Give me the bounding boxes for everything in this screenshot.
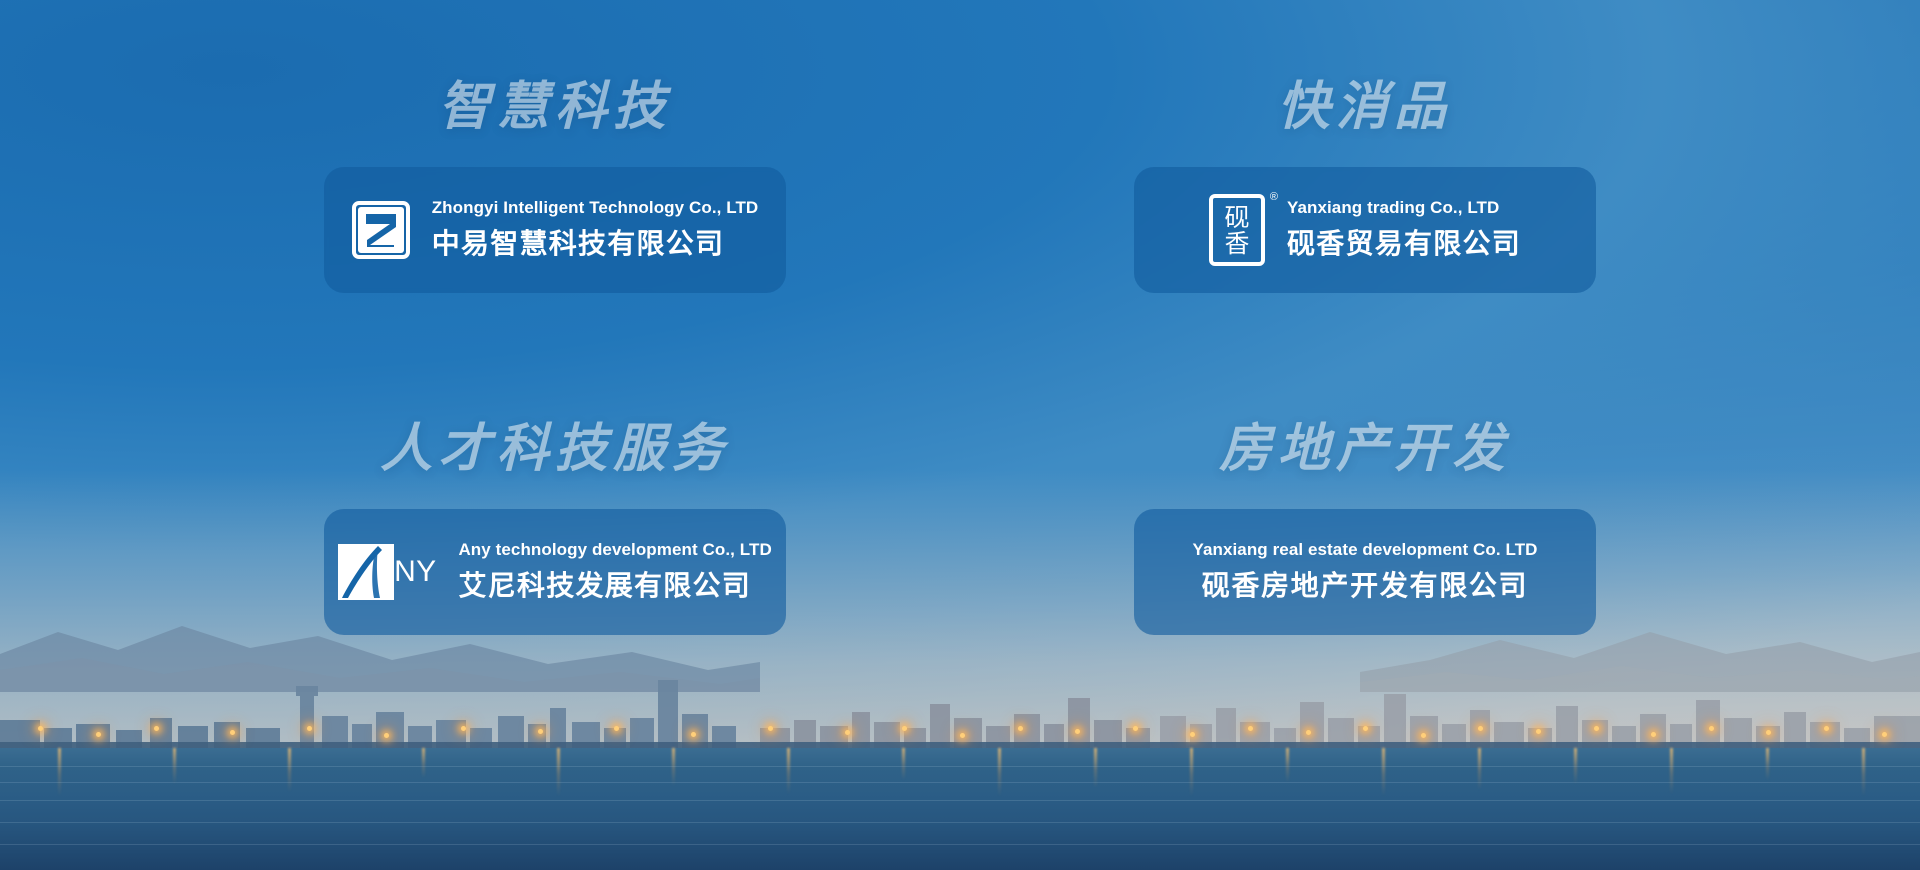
segment-fangdichan-kaifa: 房地产开发 Yanxiang real estate development C… (1040, 384, 1690, 694)
company-logo: 砚 香 ® (1209, 194, 1265, 266)
company-names: Zhongyi Intelligent Technology Co., LTD … (432, 198, 759, 262)
company-card-any[interactable]: NY Any technology development Co., LTD 艾… (324, 509, 786, 635)
seal-char-xiang: 香 (1224, 231, 1249, 256)
company-name-en: Zhongyi Intelligent Technology Co., LTD (432, 198, 759, 218)
company-name-en: Yanxiang real estate development Co. LTD (1192, 540, 1537, 560)
any-triangle-icon: NY (338, 544, 436, 600)
company-name-cn: 砚香房地产开发有限公司 (1202, 564, 1528, 604)
segment-kuaixiaopin: 快消品 砚 香 ® Yanxiang trading Co., LTD 砚香贸易… (1040, 64, 1690, 374)
company-card-zhongyi[interactable]: Zhongyi Intelligent Technology Co., LTD … (324, 167, 786, 293)
company-name-en: Any technology development Co., LTD (458, 540, 771, 560)
company-name-cn: 艾尼科技发展有限公司 (458, 564, 771, 604)
company-names: Yanxiang trading Co., LTD 砚香贸易有限公司 (1287, 198, 1521, 262)
company-name-en: Yanxiang trading Co., LTD (1287, 198, 1521, 218)
segment-title: 房地产开发 (1219, 406, 1510, 481)
company-card-yanxiang-real-estate[interactable]: Yanxiang real estate development Co. LTD… (1134, 509, 1596, 635)
company-logo: NY (338, 544, 436, 600)
company-name-cn: 砚香贸易有限公司 (1287, 222, 1521, 262)
segment-title: 人才科技服务 (380, 406, 729, 481)
segment-rencai-keji-fuwu: 人才科技服务 NY Any technology development Co.… (230, 384, 880, 694)
segment-title: 快消品 (1278, 64, 1453, 139)
company-names: Any technology development Co., LTD 艾尼科技… (458, 540, 771, 604)
yanxiang-seal-icon: 砚 香 ® (1209, 194, 1265, 266)
segments-grid: 智慧科技 Zhongyi Intelligent Technology Co.,… (0, 0, 1920, 870)
company-name-cn: 中易智慧科技有限公司 (432, 222, 759, 262)
registered-trademark-icon: ® (1270, 192, 1278, 203)
any-logo-text: NY (394, 555, 436, 589)
zhongyi-z-seal-icon (352, 201, 410, 259)
company-names: Yanxiang real estate development Co. LTD… (1192, 540, 1537, 604)
segment-title: 智慧科技 (439, 64, 672, 139)
company-logo (352, 201, 410, 259)
segment-zhiyhui-keji: 智慧科技 Zhongyi Intelligent Technology Co.,… (230, 64, 880, 374)
seal-char-yan: 砚 (1224, 205, 1249, 230)
company-card-yanxiang-trading[interactable]: 砚 香 ® Yanxiang trading Co., LTD 砚香贸易有限公司 (1134, 167, 1596, 293)
